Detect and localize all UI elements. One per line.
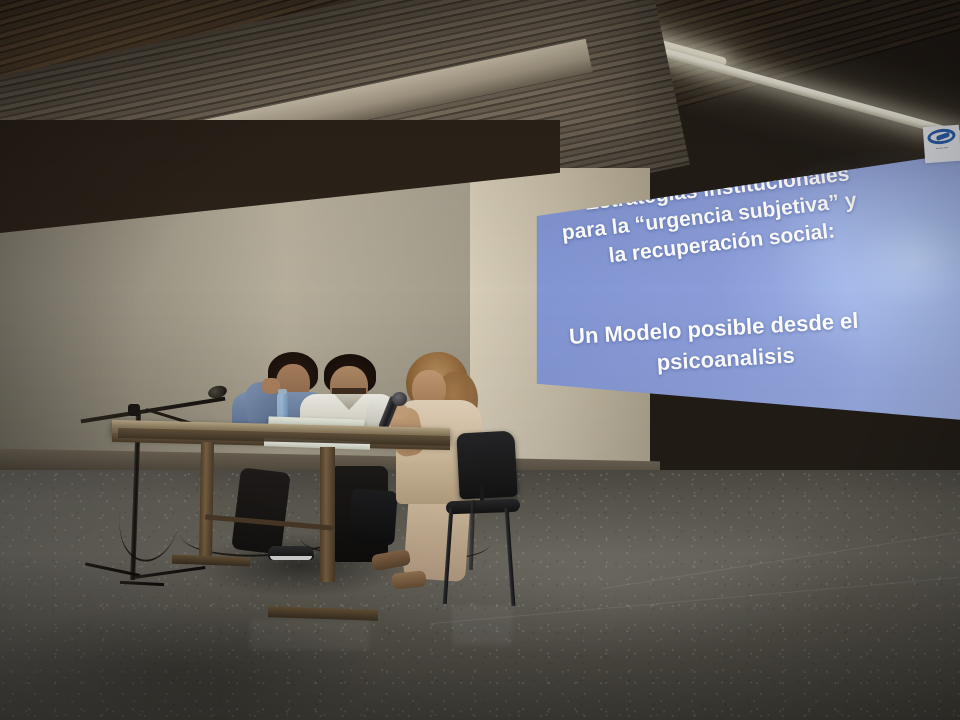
- institution-logo: •••••• ••••: [923, 125, 960, 163]
- table-reflection: [250, 620, 370, 650]
- empty-chair-back[interactable]: [456, 431, 517, 500]
- chair-center[interactable]: [348, 488, 398, 545]
- panelist-left-shoe: [268, 546, 314, 560]
- bottle-cap: [278, 389, 287, 394]
- logo-swoosh-icon: [926, 128, 956, 145]
- mic-stand-clutch: [128, 404, 140, 416]
- conference-room-photo: Estrategias institucionales para la “urg…: [0, 0, 960, 720]
- chair-reflection: [452, 606, 512, 646]
- table-leg: [320, 447, 335, 582]
- logo-caption: •••••• ••••: [927, 145, 957, 152]
- microphone-head-icon: [392, 392, 407, 406]
- panelist-left-legs: [231, 467, 291, 554]
- table-leg: [199, 442, 214, 562]
